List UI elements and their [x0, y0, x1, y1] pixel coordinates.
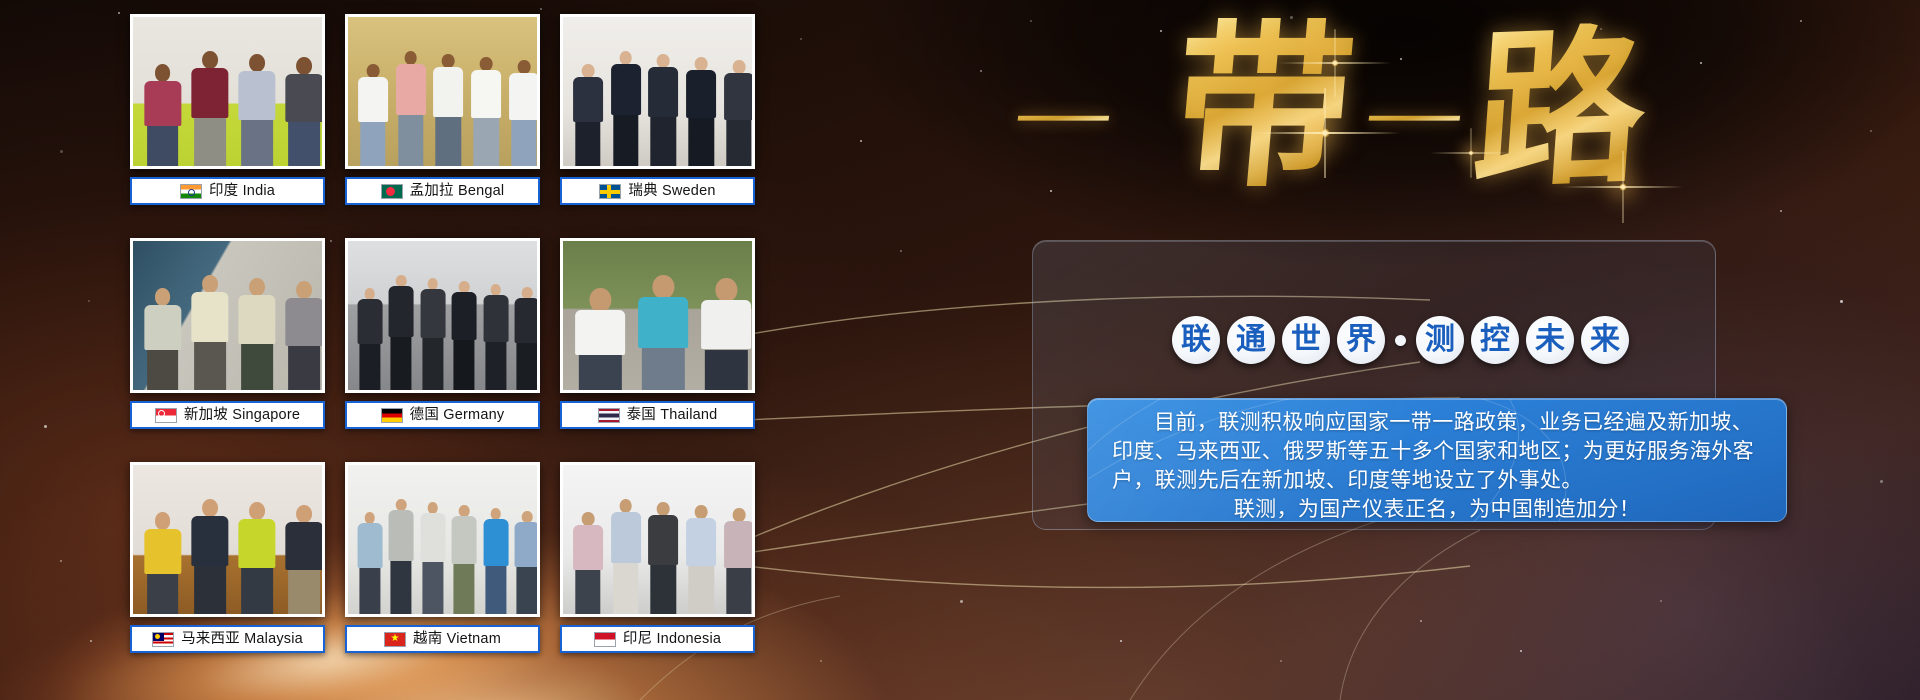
country-label-text: 瑞典 Sweden: [628, 184, 715, 199]
calligraphy-char-4: 路: [1469, 21, 1651, 197]
person-legs: [194, 566, 226, 614]
gallery-cell: 孟加拉 Bengal: [345, 14, 540, 224]
person-head: [522, 511, 533, 523]
person-legs: [485, 342, 506, 390]
photo-person: [470, 57, 502, 166]
person-torso: [483, 519, 508, 566]
person-torso: [434, 67, 464, 116]
person-legs: [288, 570, 320, 614]
person-head: [653, 275, 674, 299]
country-label: 印尼 Indonesia: [560, 625, 755, 653]
calligraphy-char-2: 带: [1167, 18, 1361, 196]
person-torso: [358, 77, 388, 122]
group-photo-thailand: [560, 238, 755, 393]
photo-person: [237, 54, 277, 166]
singapore-flag-icon: [155, 408, 177, 423]
person-legs: [194, 118, 226, 166]
photo-scene: [348, 241, 537, 390]
person-torso: [576, 310, 626, 355]
description-box: 目前，联测积极响应国家一带一路政策，业务已经遍及新加坡、印度、马来西亚、俄罗斯等…: [1087, 398, 1787, 522]
photo-person: [285, 281, 325, 390]
person-torso: [389, 510, 414, 561]
person-head: [427, 278, 438, 290]
photo-person: [143, 64, 183, 166]
person-head: [249, 502, 265, 520]
photo-person: [685, 505, 717, 614]
photo-person: [143, 288, 183, 390]
calligraphy-headline: 一 带 一 路: [1020, 10, 1640, 220]
photo-scene: [133, 465, 322, 614]
person-torso: [286, 74, 323, 122]
photo-person: [451, 281, 477, 390]
person-legs: [422, 338, 443, 390]
calligraphy-char-3: 一: [1363, 98, 1464, 141]
slogan-row: 联通世界测控未来: [1172, 316, 1629, 364]
person-head: [202, 275, 218, 293]
group-photo-vietnam: [345, 462, 540, 617]
photo-person: [190, 499, 230, 614]
person-legs: [241, 344, 273, 390]
photo-scene: [348, 465, 537, 614]
person-head: [296, 57, 312, 75]
person-legs: [642, 348, 684, 390]
person-torso: [702, 300, 752, 349]
person-legs: [485, 566, 506, 614]
country-label-text: 孟加拉 Bengal: [410, 184, 505, 199]
calligraphy-char-1: 一: [1012, 98, 1113, 141]
person-legs: [391, 561, 412, 614]
person-head: [364, 288, 375, 300]
gallery-cell: 印度 India: [130, 14, 325, 224]
sparkle-icon: [1468, 150, 1474, 156]
person-head: [522, 287, 533, 299]
photo-scene: [348, 17, 537, 166]
person-head: [249, 54, 265, 72]
person-torso: [420, 289, 445, 338]
person-legs: [575, 570, 600, 614]
person-head: [155, 64, 171, 82]
person-head: [733, 60, 746, 74]
photo-scene: [133, 241, 322, 390]
photo-person: [237, 502, 277, 614]
person-torso: [357, 523, 382, 568]
person-legs: [360, 122, 385, 166]
person-head: [716, 278, 737, 302]
country-label-text: 马来西亚 Malaysia: [181, 632, 303, 647]
photo-person: [420, 502, 446, 614]
photo-person: [483, 508, 509, 614]
person-head: [695, 505, 708, 519]
slogan-char-bead: 界: [1337, 316, 1385, 364]
person-legs: [147, 126, 179, 166]
person-torso: [238, 519, 275, 568]
description-paragraph-2: 联测，为国产仪表正名，为中国制造加分！: [1112, 495, 1762, 522]
gallery-cell: 泰国 Thailand: [560, 238, 755, 448]
person-head: [490, 284, 501, 296]
person-head: [427, 502, 438, 514]
photo-person: [190, 51, 230, 166]
photo-person: [610, 499, 642, 614]
person-head: [582, 512, 595, 526]
person-torso: [396, 64, 426, 115]
group-photo-sweden: [560, 14, 755, 169]
slogan-char-bead: 来: [1581, 316, 1629, 364]
person-torso: [471, 70, 501, 118]
person-legs: [436, 117, 461, 166]
slogan-char-bead: 世: [1282, 316, 1330, 364]
person-legs: [454, 564, 475, 614]
person-legs: [517, 343, 538, 390]
person-legs: [511, 120, 536, 166]
person-torso: [611, 512, 641, 563]
person-legs: [517, 567, 538, 614]
person-head: [442, 54, 455, 68]
person-torso: [191, 292, 228, 343]
person-head: [249, 278, 265, 296]
photo-scene: [133, 17, 322, 166]
person-head: [582, 64, 595, 78]
sparkle-icon: [1331, 59, 1339, 67]
sweden-flag-icon: [599, 184, 621, 199]
person-legs: [613, 115, 638, 166]
photo-person: [574, 288, 627, 390]
sparkle-icon: [1619, 183, 1627, 191]
photo-person: [357, 64, 389, 166]
photo-person: [388, 275, 414, 390]
photo-scene: [563, 465, 752, 614]
person-head: [518, 60, 531, 74]
person-torso: [649, 515, 679, 564]
person-legs: [398, 115, 423, 166]
country-label-text: 德国 Germany: [410, 408, 505, 423]
slogan-char-bead: 联: [1172, 316, 1220, 364]
person-torso: [724, 521, 754, 568]
gallery-cell: 德国 Germany: [345, 238, 540, 448]
country-label-text: 越南 Vietnam: [413, 632, 501, 647]
person-torso: [286, 522, 323, 570]
india-flag-icon: [180, 184, 202, 199]
person-legs: [147, 350, 179, 390]
person-head: [202, 499, 218, 517]
person-head: [459, 281, 470, 293]
country-label: 马来西亚 Malaysia: [130, 625, 325, 653]
person-legs: [613, 563, 638, 614]
person-head: [396, 275, 407, 287]
slogan-separator-dot: [1395, 335, 1406, 346]
person-head: [590, 288, 611, 312]
person-legs: [391, 337, 412, 390]
group-photo-bengal: [345, 14, 540, 169]
country-label-text: 新加坡 Singapore: [184, 408, 300, 423]
person-head: [155, 512, 171, 530]
gallery-cell: 新加坡 Singapore: [130, 238, 325, 448]
person-torso: [144, 305, 181, 350]
group-photo-germany: [345, 238, 540, 393]
person-torso: [286, 298, 323, 346]
slogan-char-bead: 控: [1471, 316, 1519, 364]
person-legs: [241, 120, 273, 166]
person-torso: [639, 297, 689, 348]
person-torso: [144, 81, 181, 126]
person-head: [404, 51, 417, 65]
thailand-flag-icon: [598, 408, 620, 423]
person-torso: [686, 518, 716, 566]
gallery-cell: 马来西亚 Malaysia: [130, 462, 325, 672]
person-legs: [454, 340, 475, 390]
person-head: [619, 499, 632, 513]
person-legs: [651, 565, 676, 614]
slogan-char-bead: 测: [1416, 316, 1464, 364]
photo-person: [388, 499, 414, 614]
person-torso: [611, 64, 641, 115]
person-torso: [509, 73, 539, 120]
group-photo-malaysia: [130, 462, 325, 617]
person-torso: [573, 525, 603, 570]
person-head: [657, 502, 670, 516]
slogan-char-bead: 未: [1526, 316, 1574, 364]
person-head: [155, 288, 171, 306]
person-torso: [483, 295, 508, 342]
person-torso: [649, 67, 679, 116]
person-head: [695, 57, 708, 71]
person-head: [367, 64, 380, 78]
group-photo-singapore: [130, 238, 325, 393]
banner-stage: 印度 India孟加拉 Bengal瑞典 Sweden新加坡 Singapore…: [0, 0, 1920, 700]
person-torso: [452, 516, 477, 564]
photo-person: [285, 505, 325, 614]
person-legs: [705, 350, 747, 390]
person-legs: [726, 120, 751, 166]
germany-flag-icon: [381, 408, 403, 423]
person-head: [490, 508, 501, 520]
photo-person: [637, 275, 690, 390]
person-head: [364, 512, 375, 524]
person-head: [459, 505, 470, 517]
indonesia-flag-icon: [594, 632, 616, 647]
person-legs: [474, 118, 499, 166]
person-legs: [689, 118, 714, 166]
person-torso: [573, 77, 603, 122]
country-label-text: 印度 India: [209, 184, 275, 199]
person-legs: [726, 568, 751, 614]
person-torso: [238, 295, 275, 344]
photo-person: [451, 505, 477, 614]
gallery-cell: 印尼 Indonesia: [560, 462, 755, 672]
person-torso: [686, 70, 716, 118]
gallery-cell: 越南 Vietnam: [345, 462, 540, 672]
person-torso: [515, 522, 540, 567]
malaysia-flag-icon: [152, 632, 174, 647]
photo-person: [508, 60, 540, 166]
person-torso: [389, 286, 414, 337]
person-head: [619, 51, 632, 65]
person-head: [396, 499, 407, 511]
photo-person: [433, 54, 465, 166]
photo-person: [685, 57, 717, 166]
person-torso: [515, 298, 540, 343]
photo-scene: [563, 241, 752, 390]
photo-person: [723, 508, 755, 614]
country-label: 瑞典 Sweden: [560, 177, 755, 205]
person-head: [296, 505, 312, 523]
person-torso: [357, 299, 382, 344]
person-legs: [288, 122, 320, 166]
person-head: [296, 281, 312, 299]
person-legs: [147, 574, 179, 614]
country-label-text: 印尼 Indonesia: [623, 632, 721, 647]
photo-person: [143, 512, 183, 614]
photo-person: [610, 51, 642, 166]
person-legs: [579, 355, 621, 390]
person-torso: [420, 513, 445, 562]
person-head: [480, 57, 493, 71]
person-legs: [575, 122, 600, 166]
photo-person: [514, 287, 540, 390]
sparkle-icon: [1320, 128, 1330, 138]
person-head: [657, 54, 670, 68]
person-torso: [144, 529, 181, 574]
description-paragraph-1: 目前，联测积极响应国家一带一路政策，业务已经遍及新加坡、印度、马来西亚、俄罗斯等…: [1112, 408, 1762, 495]
country-label-text: 泰国 Thailand: [627, 408, 718, 423]
country-label: 越南 Vietnam: [345, 625, 540, 653]
person-legs: [359, 344, 380, 390]
country-label: 孟加拉 Bengal: [345, 177, 540, 205]
group-photo-india: [130, 14, 325, 169]
person-torso: [191, 516, 228, 567]
person-torso: [238, 71, 275, 120]
person-torso: [452, 292, 477, 340]
photo-person: [395, 51, 427, 166]
photo-person: [514, 511, 540, 614]
country-label: 泰国 Thailand: [560, 401, 755, 429]
photo-person: [648, 54, 680, 166]
country-label: 德国 Germany: [345, 401, 540, 429]
photo-person: [700, 278, 753, 390]
country-photo-grid: 印度 India孟加拉 Bengal瑞典 Sweden新加坡 Singapore…: [130, 14, 770, 686]
photo-person: [357, 288, 383, 390]
slogan-char-bead: 通: [1227, 316, 1275, 364]
vietnam-flag-icon: [384, 632, 406, 647]
photo-person: [420, 278, 446, 390]
person-legs: [422, 562, 443, 614]
country-label: 印度 India: [130, 177, 325, 205]
bangladesh-flag-icon: [381, 184, 403, 199]
person-legs: [288, 346, 320, 390]
photo-person: [237, 278, 277, 390]
photo-person: [648, 502, 680, 614]
photo-person: [572, 512, 604, 614]
person-legs: [241, 568, 273, 614]
photo-person: [285, 57, 325, 166]
photo-person: [723, 60, 755, 166]
person-legs: [651, 117, 676, 166]
country-label: 新加坡 Singapore: [130, 401, 325, 429]
photo-person: [572, 64, 604, 166]
photo-person: [190, 275, 230, 390]
person-legs: [194, 342, 226, 390]
group-photo-indonesia: [560, 462, 755, 617]
photo-scene: [563, 17, 752, 166]
person-head: [202, 51, 218, 69]
gallery-cell: 瑞典 Sweden: [560, 14, 755, 224]
person-legs: [689, 566, 714, 614]
photo-person: [357, 512, 383, 614]
person-legs: [359, 568, 380, 614]
person-head: [733, 508, 746, 522]
photo-person: [483, 284, 509, 390]
person-torso: [191, 68, 228, 119]
person-torso: [724, 73, 754, 120]
